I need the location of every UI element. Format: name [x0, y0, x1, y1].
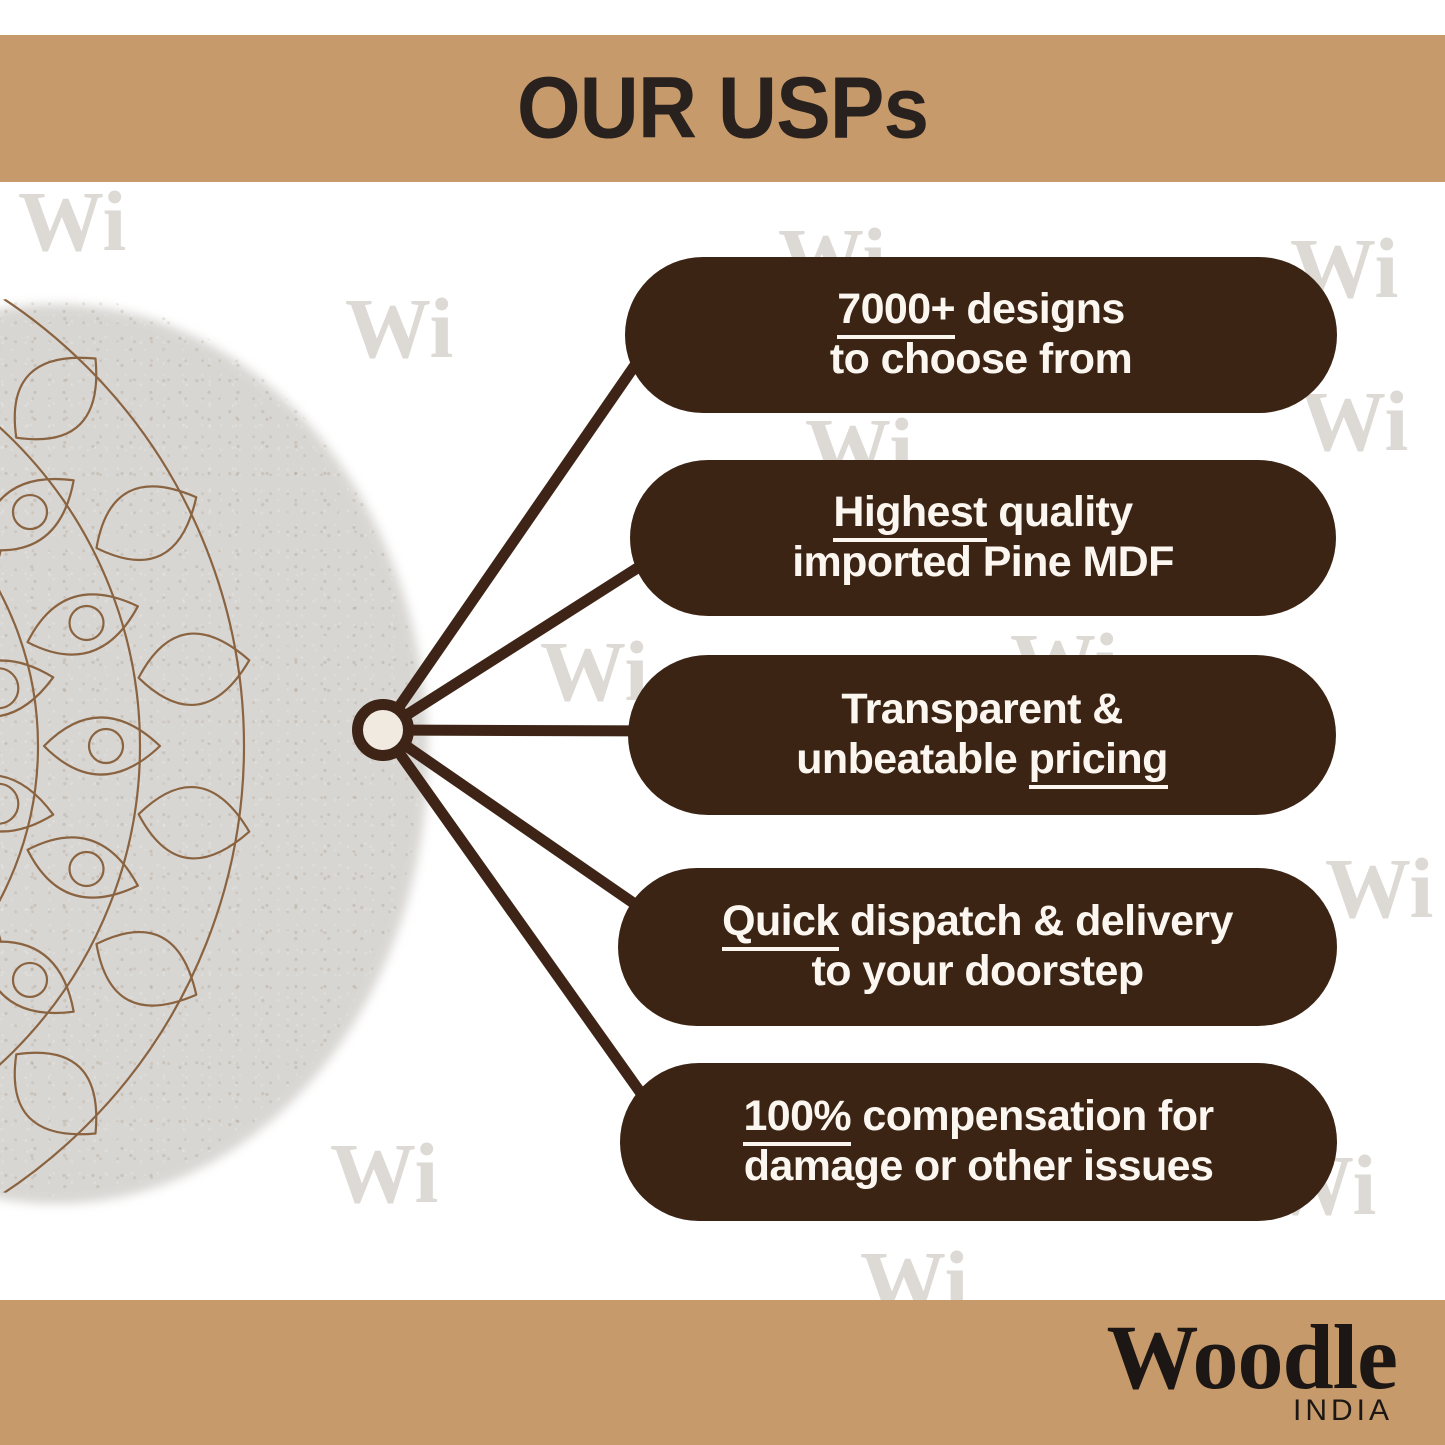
- usp-line-1: 7000+ designs: [837, 285, 1124, 339]
- usp-line-2: unbeatable pricing: [796, 735, 1167, 789]
- usp-pill-compensation[interactable]: 100% compensation for damage or other is…: [620, 1063, 1337, 1221]
- watermark-wi: Wi: [1325, 845, 1433, 931]
- watermark-wi: Wi: [18, 178, 126, 264]
- usp-line-1: Quick dispatch & delivery: [722, 897, 1233, 951]
- usp-text-quality: Highest quality imported Pine MDF: [792, 488, 1174, 588]
- usp-line-1: Highest quality: [833, 488, 1132, 542]
- usp-line-1: 100% compensation for: [743, 1092, 1213, 1146]
- usp-highlight-dispatch: Quick: [722, 897, 839, 951]
- usp-highlight-quality: Highest: [833, 488, 986, 542]
- usp-pill-quality[interactable]: Highest quality imported Pine MDF: [630, 460, 1336, 616]
- usp-text-designs: 7000+ designs to choose from: [830, 285, 1132, 385]
- usp-pill-designs[interactable]: 7000+ designs to choose from: [625, 257, 1337, 413]
- usp-line-2: to your doorstep: [811, 947, 1143, 995]
- watermark-wi: Wi: [1300, 378, 1408, 464]
- usp-line-2: to choose from: [830, 335, 1132, 383]
- usp-highlight-pricing: pricing: [1029, 735, 1168, 789]
- usp-pill-pricing[interactable]: Transparent & unbeatable pricing: [628, 655, 1336, 815]
- usp-highlight-designs: 7000+: [837, 285, 955, 339]
- usp-highlight-compensation: 100%: [743, 1092, 851, 1146]
- brand-logo: Woodle INDIA: [1107, 1312, 1397, 1428]
- usp-pill-dispatch[interactable]: Quick dispatch & delivery to your doorst…: [618, 868, 1337, 1026]
- usp-text-dispatch: Quick dispatch & delivery to your doorst…: [722, 897, 1233, 997]
- usp-line-1: Transparent &: [841, 685, 1122, 733]
- usp-line-2: damage or other issues: [744, 1142, 1214, 1190]
- infographic-canvas: Wi Wi Wi Wi Wi Wi Wi Wi Wi Wi Wi Wi: [0, 0, 1445, 1445]
- usp-text-pricing: Transparent & unbeatable pricing: [796, 685, 1167, 785]
- usp-line-2: imported Pine MDF: [792, 538, 1174, 586]
- hub-node: [352, 699, 414, 761]
- watermark-wi: Wi: [540, 628, 648, 714]
- header-band: OUR USPs: [0, 35, 1445, 182]
- usp-text-compensation: 100% compensation for damage or other is…: [743, 1092, 1213, 1192]
- brand-name: Woodle: [1107, 1312, 1397, 1402]
- page-title: OUR USPs: [517, 59, 928, 159]
- footer-band: Woodle INDIA: [0, 1300, 1445, 1445]
